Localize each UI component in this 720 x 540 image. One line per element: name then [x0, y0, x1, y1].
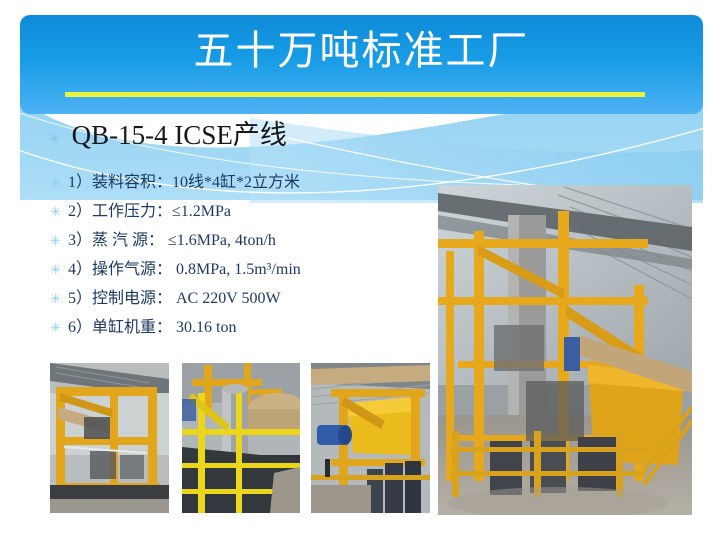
- main-plant-photo-image: [438, 185, 692, 515]
- spec-text: 5）控制电源： AC 220V 500W: [68, 288, 281, 310]
- spec-text: 3）蒸 汽 源： ≤1.6MPa, 4ton/h: [68, 230, 276, 252]
- list-item: ✳ 6）单缸机重： 30.16 ton: [50, 317, 430, 346]
- list-item: ✳ 4）操作气源： 0.8MPa, 1.5m³/min: [50, 259, 430, 288]
- plant-photo-2: [182, 363, 300, 513]
- asterisk-bullet-icon: ✳: [50, 205, 68, 218]
- asterisk-bullet-icon: ✳: [50, 234, 68, 247]
- specification-list: ✳ 1）装料容积：10线*4缸*2立方米 ✳ 2）工作压力：≤1.2MPa ✳ …: [50, 172, 430, 346]
- subtitle-row: ✳ QB-15-4 ICSE产线: [48, 119, 287, 151]
- spec-text: 2）工作压力：≤1.2MPa: [68, 201, 231, 223]
- list-item: ✳ 2）工作压力：≤1.2MPa: [50, 201, 430, 230]
- plant-photo-1-image: [50, 363, 169, 513]
- plant-photo-3-image: [311, 363, 430, 513]
- plant-photo-3: [311, 363, 430, 513]
- page-title: 五十万吨标准工厂: [20, 28, 703, 74]
- plant-photo-1: [50, 363, 169, 513]
- slide-title-banner: 五十万吨标准工厂: [20, 15, 703, 114]
- list-item: ✳ 1）装料容积：10线*4缸*2立方米: [50, 172, 430, 201]
- list-item: ✳ 3）蒸 汽 源： ≤1.6MPa, 4ton/h: [50, 230, 430, 259]
- plant-photo-2-image: [182, 363, 300, 513]
- title-underline-rule: [65, 92, 645, 97]
- asterisk-bullet-icon: ✳: [50, 176, 68, 189]
- main-plant-photo: [438, 185, 692, 515]
- list-item: ✳ 5）控制电源： AC 220V 500W: [50, 288, 430, 317]
- asterisk-bullet-icon: ✳: [48, 133, 61, 148]
- presentation-slide: 五十万吨标准工厂 ✳ QB-15-4 ICSE产线 ✳ 1）装料容积：10线*4…: [0, 0, 720, 540]
- subtitle-text: QB-15-4 ICSE产线: [72, 119, 287, 151]
- spec-text: 6）单缸机重： 30.16 ton: [68, 317, 236, 339]
- asterisk-bullet-icon: ✳: [50, 263, 68, 276]
- spec-text: 1）装料容积：10线*4缸*2立方米: [68, 172, 300, 194]
- asterisk-bullet-icon: ✳: [50, 292, 68, 305]
- asterisk-bullet-icon: ✳: [50, 321, 68, 334]
- spec-text: 4）操作气源： 0.8MPa, 1.5m³/min: [68, 259, 301, 281]
